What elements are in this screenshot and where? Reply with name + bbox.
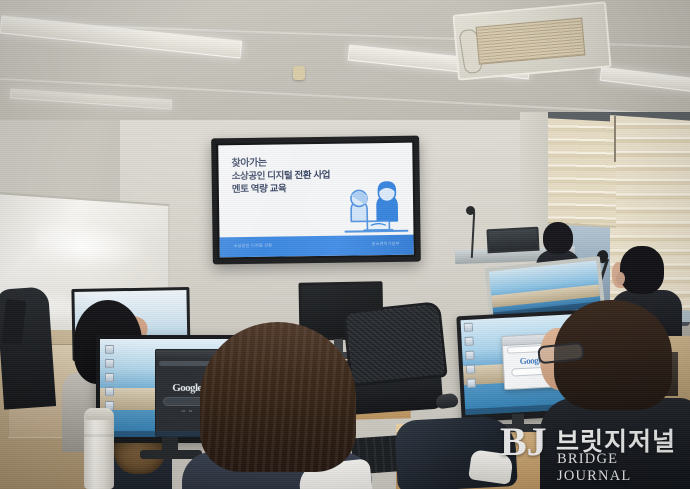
ac-grill	[476, 18, 586, 65]
presenter-laptop	[486, 227, 539, 254]
desktop-icon[interactable]	[105, 345, 114, 354]
mouse[interactable]	[435, 393, 459, 410]
microphone-icon	[466, 206, 475, 215]
ceiling-sensor-icon	[293, 66, 305, 80]
photo-scene: 찾아가는 소상공인 디지털 전환 사업 멘토 역량 교육	[0, 0, 690, 489]
window-blind[interactable]	[548, 118, 616, 228]
person-foreground-main	[182, 322, 372, 489]
desktop-icon[interactable]	[105, 373, 114, 382]
slide-footer-right-text: 중소벤처기업부	[372, 241, 400, 247]
ceiling-light	[600, 67, 690, 96]
blind-cord[interactable]	[614, 116, 616, 162]
two-people-with-laptop-icon	[337, 181, 414, 237]
ceiling-light	[0, 15, 242, 58]
tumbler[interactable]	[84, 408, 114, 489]
presentation-screen: 찾아가는 소상공인 디지털 전환 사업 멘토 역량 교육	[211, 136, 421, 265]
desktop-icons[interactable]	[464, 322, 484, 393]
person-foreground-right	[540, 300, 690, 489]
person-ear	[616, 272, 625, 285]
desktop-icon[interactable]	[465, 351, 474, 360]
person-hair	[200, 322, 356, 472]
slide-footer-left-text: 소상공인 디지털 전환	[234, 243, 273, 250]
desktop-icon[interactable]	[105, 359, 114, 368]
ceiling-air-conditioner	[452, 1, 611, 80]
desktop-icon[interactable]	[105, 387, 114, 396]
ceiling-light	[10, 88, 172, 109]
desktop-icon[interactable]	[464, 337, 473, 346]
tumbler-lid	[85, 408, 113, 420]
desktop-icon[interactable]	[464, 323, 473, 332]
desktop-icon[interactable]	[467, 378, 476, 387]
slide-footer-bar: 소상공인 디지털 전환 중소벤처기업부	[220, 235, 414, 258]
person-body	[540, 398, 690, 489]
person-head	[620, 246, 664, 294]
presentation-slide: 찾아가는 소상공인 디지털 전환 사업 멘토 역량 교육	[218, 143, 414, 258]
person-head	[543, 222, 573, 254]
tumbler-band	[84, 434, 114, 437]
desktop-icon[interactable]	[466, 365, 475, 374]
whiteboard-glare	[34, 219, 149, 275]
laptop-screen	[489, 229, 538, 251]
